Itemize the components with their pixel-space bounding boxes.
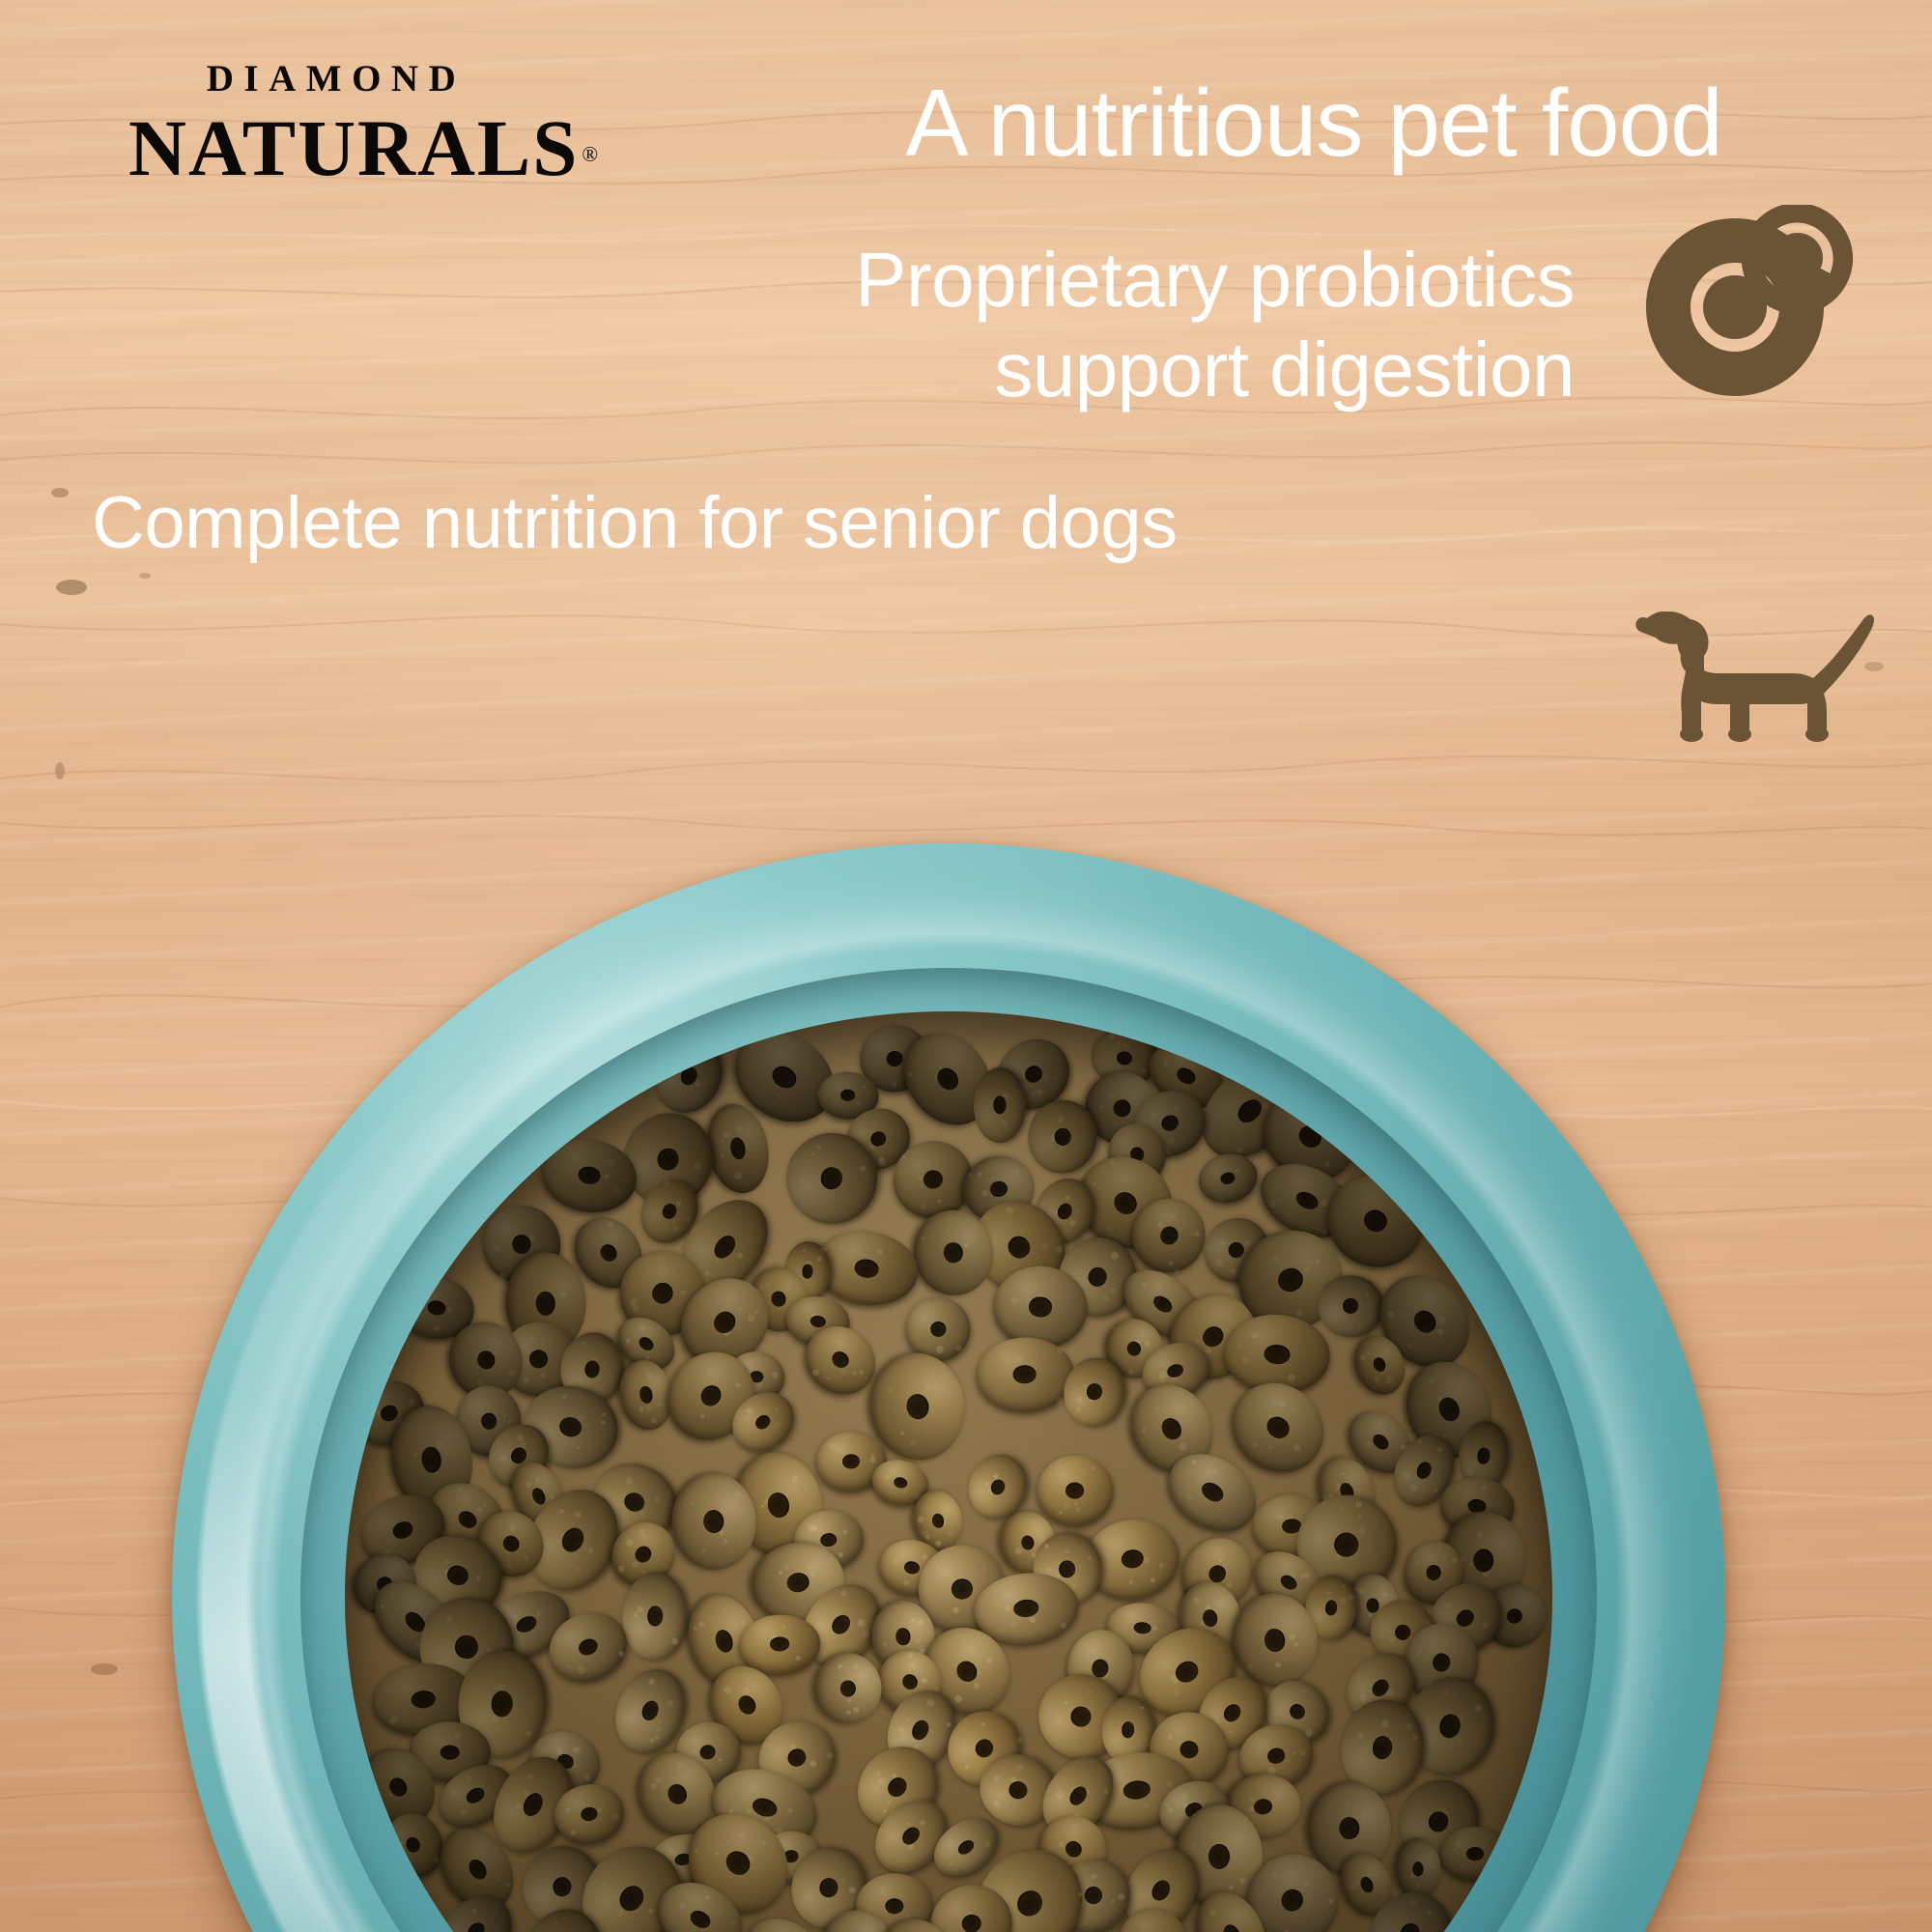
claim-probiotics-text: Proprietary probiotics support digestion [512,236,1575,415]
brand-name-naturals: NATURALS® [128,108,600,188]
claim-senior-line-1: Complete nutrition for senior dogs [92,483,1541,564]
page-title: A nutritious pet food [724,73,1903,173]
claim-senior-text: Complete nutrition for senior dogs [92,483,1541,564]
registered-trademark-icon: ® [582,142,600,166]
probiotic-cell-icon [1631,205,1878,403]
brand-name-naturals-text: NATURALS [128,103,579,192]
dachshund-dog-icon [1626,587,1879,742]
brand-name-diamond: DIAMOND [138,60,534,98]
claim-probiotics-line-1: Proprietary probiotics [512,236,1575,326]
product-banner: DIAMOND NATURALS® A nutritious pet food … [0,0,1932,1932]
claim-probiotics-line-2: support digestion [512,326,1575,415]
brand-logo: DIAMOND NATURALS® [128,60,534,188]
